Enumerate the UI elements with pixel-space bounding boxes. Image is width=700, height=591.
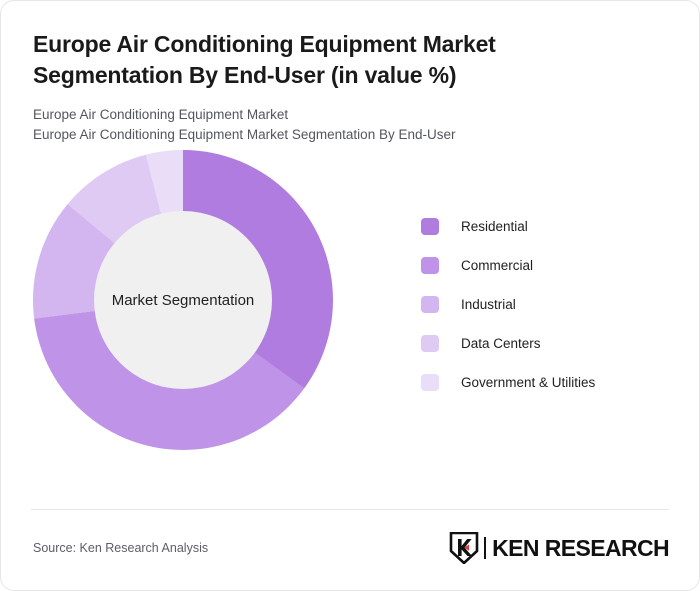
legend-swatch	[421, 218, 439, 235]
legend-item[interactable]: Residential	[421, 207, 671, 246]
donut-chart: Market Segmentation	[33, 150, 333, 450]
legend-item[interactable]: Government & Utilities	[421, 363, 671, 402]
chart-body: Market Segmentation ResidentialCommercia…	[1, 145, 699, 475]
legend-item[interactable]: Industrial	[421, 285, 671, 324]
chart-legend: ResidentialCommercialIndustrialData Cent…	[421, 207, 671, 402]
legend-item[interactable]: Data Centers	[421, 324, 671, 363]
legend-label: Commercial	[461, 258, 533, 273]
logo-text: KEN RESEARCH	[492, 535, 669, 562]
subtitle-group: Europe Air Conditioning Equipment Market…	[33, 105, 667, 145]
legend-label: Data Centers	[461, 336, 541, 351]
legend-swatch	[421, 257, 439, 274]
ken-research-logo: KEN RESEARCH	[449, 532, 669, 564]
logo-separator	[484, 537, 486, 559]
footer-divider	[31, 509, 669, 510]
legend-swatch	[421, 296, 439, 313]
legend-swatch	[421, 374, 439, 391]
subtitle-segmentation: Europe Air Conditioning Equipment Market…	[33, 125, 667, 145]
legend-item[interactable]: Commercial	[421, 246, 671, 285]
subtitle-market: Europe Air Conditioning Equipment Market	[33, 105, 667, 125]
shield-logo-icon	[449, 532, 479, 564]
legend-label: Residential	[461, 219, 528, 234]
chart-footer: Source: Ken Research Analysis KEN RESEAR…	[33, 532, 669, 564]
legend-swatch	[421, 335, 439, 352]
chart-header: Europe Air Conditioning Equipment Market…	[1, 1, 699, 145]
legend-label: Industrial	[461, 297, 516, 312]
donut-center-label: Market Segmentation	[102, 291, 265, 310]
source-text: Source: Ken Research Analysis	[33, 541, 208, 555]
legend-label: Government & Utilities	[461, 375, 595, 390]
chart-card: Europe Air Conditioning Equipment Market…	[0, 0, 700, 591]
page-title: Europe Air Conditioning Equipment Market…	[33, 29, 573, 91]
donut-hole: Market Segmentation	[94, 211, 272, 389]
